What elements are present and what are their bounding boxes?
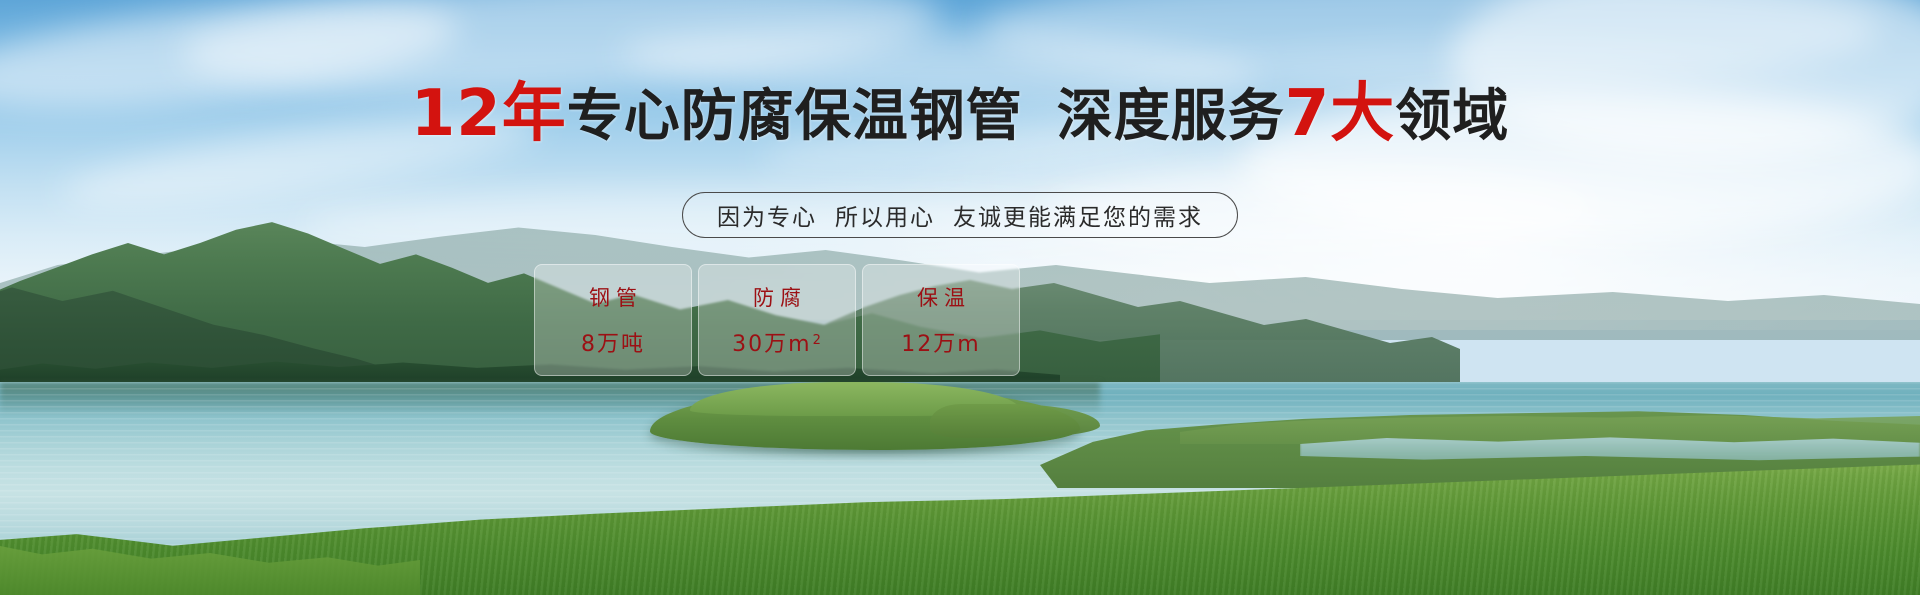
stat-label: 钢管 [583, 282, 643, 312]
stat-label: 防腐 [747, 282, 807, 312]
stat-value: 8 万吨 [581, 326, 645, 358]
headline-years-accent: 12年 [411, 77, 567, 151]
headline-fields-text: 领域 [1395, 84, 1509, 149]
stat-value: 30 万m2 [732, 326, 822, 358]
stat-card-insulation[interactable]: 保温 12 万m [862, 264, 1020, 376]
stat-card-steel-pipe[interactable]: 钢管 8 万吨 [534, 264, 692, 376]
stat-number: 30 [732, 332, 764, 357]
headline-fields-accent: 7大 [1285, 77, 1396, 151]
banner-headline: 12年专心防腐保温钢管深度服务7大领域 [0, 82, 1920, 146]
stat-label: 保温 [911, 282, 971, 312]
stat-card-anticorrosion[interactable]: 防腐 30 万m2 [698, 264, 856, 376]
stat-unit: 万m [764, 326, 811, 358]
stat-number: 8 [581, 332, 597, 357]
subtitle-part-3: 友诚更能满足您的需求 [953, 198, 1203, 232]
subtitle-part-1: 因为专心 [717, 198, 817, 232]
stat-value: 12 万m [901, 326, 980, 358]
stat-card-group: 钢管 8 万吨 防腐 30 万m2 保温 12 万m [534, 264, 1020, 376]
headline-main-text: 专心防腐保温钢管 [567, 84, 1023, 149]
stat-unit: 万吨 [597, 326, 645, 358]
subtitle-part-2: 所以用心 [835, 198, 935, 232]
stat-unit: 万m [933, 326, 980, 358]
banner-subtitle-pill: 因为专心 所以用心 友诚更能满足您的需求 [682, 192, 1238, 238]
headline-service-text: 深度服务 [1057, 84, 1285, 149]
hero-banner: 12年专心防腐保温钢管深度服务7大领域 因为专心 所以用心 友诚更能满足您的需求… [0, 0, 1920, 595]
stat-number: 12 [901, 332, 933, 357]
